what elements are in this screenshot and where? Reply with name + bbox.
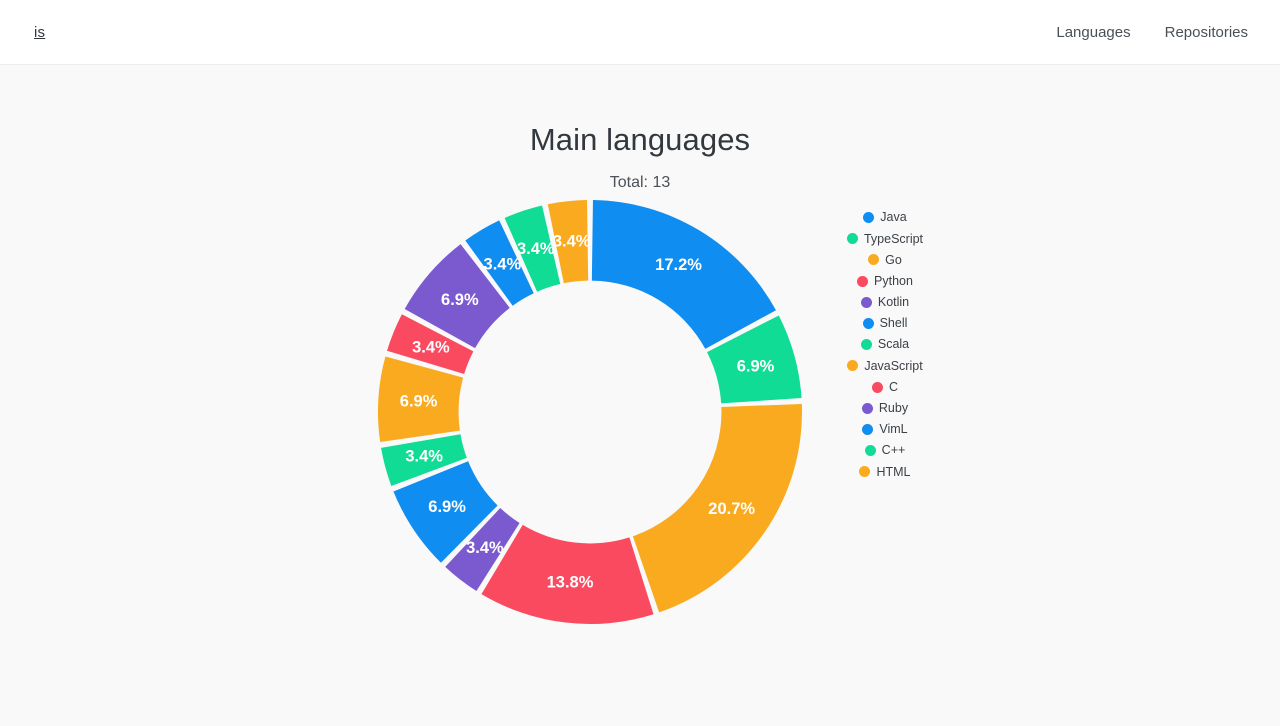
legend-item[interactable]: Shell — [863, 313, 908, 334]
nav-link-languages[interactable]: Languages — [1056, 24, 1130, 41]
brand-logo[interactable]: is — [34, 24, 45, 41]
legend-item[interactable]: C — [872, 377, 898, 398]
legend-item[interactable]: Java — [863, 207, 906, 228]
legend-item-label: C — [889, 381, 898, 394]
legend-color-dot-icon — [847, 233, 858, 244]
legend-item-label: JavaScript — [864, 360, 922, 373]
legend-item[interactable]: JavaScript — [847, 355, 922, 376]
legend-item-label: Python — [874, 275, 913, 288]
legend-color-dot-icon — [847, 360, 858, 371]
donut-slice-label: 6.9% — [737, 357, 775, 375]
donut-slice-label: 6.9% — [428, 498, 466, 516]
donut-slice-label: 3.4% — [405, 448, 443, 466]
legend-item[interactable]: Python — [857, 271, 913, 292]
donut-slice-label: 20.7% — [708, 500, 755, 518]
donut-slice-label: 3.4% — [484, 255, 522, 273]
legend-color-dot-icon — [862, 403, 873, 414]
legend-item-label: Scala — [878, 338, 909, 351]
legend-item[interactable]: Ruby — [862, 398, 908, 419]
donut-slice[interactable] — [592, 200, 776, 349]
chart-legend: JavaTypeScriptGoPythonKotlinShellScalaJa… — [806, 207, 964, 482]
legend-item[interactable]: VimL — [862, 419, 907, 440]
legend-color-dot-icon — [861, 339, 872, 350]
legend-item[interactable]: Scala — [861, 334, 909, 355]
legend-color-dot-icon — [863, 318, 874, 329]
donut-slice-label: 17.2% — [655, 256, 702, 274]
app-header: is LanguagesRepositories — [0, 0, 1280, 65]
legend-item[interactable]: TypeScript — [847, 228, 923, 249]
legend-color-dot-icon — [868, 254, 879, 265]
legend-item-label: Go — [885, 254, 902, 267]
donut-slice-label: 3.4% — [412, 338, 450, 356]
legend-item[interactable]: Kotlin — [861, 292, 909, 313]
donut-chart-svg: 17.2%6.9%20.7%13.8%3.4%6.9%3.4%6.9%3.4%6… — [375, 197, 805, 627]
page-body: Main languages Total: 13 17.2%6.9%20.7%1… — [0, 65, 1280, 726]
legend-item-label: C++ — [882, 444, 906, 457]
donut-slice-label: 3.4% — [553, 232, 591, 250]
legend-item-label: Shell — [880, 317, 908, 330]
legend-color-dot-icon — [859, 466, 870, 477]
legend-item[interactable]: HTML — [859, 461, 910, 482]
legend-color-dot-icon — [857, 276, 868, 287]
donut-slice-label: 13.8% — [547, 574, 594, 592]
donut-chart[interactable]: 17.2%6.9%20.7%13.8%3.4%6.9%3.4%6.9%3.4%6… — [375, 197, 805, 627]
legend-item-label: Java — [880, 211, 906, 224]
donut-slice-label: 3.4% — [466, 539, 504, 557]
nav-link-repositories[interactable]: Repositories — [1165, 24, 1248, 41]
donut-slices — [378, 200, 802, 624]
legend-item-label: Ruby — [879, 402, 908, 415]
legend-color-dot-icon — [872, 382, 883, 393]
chart-area: 17.2%6.9%20.7%13.8%3.4%6.9%3.4%6.9%3.4%6… — [0, 191, 1280, 661]
chart-total-label: Total: 13 — [0, 155, 1280, 191]
legend-item-label: Kotlin — [878, 296, 909, 309]
legend-item-label: VimL — [879, 423, 907, 436]
donut-slice-label: 3.4% — [517, 240, 555, 258]
page-title: Main languages — [0, 65, 1280, 155]
donut-slice-label: 6.9% — [441, 291, 479, 309]
legend-item-label: TypeScript — [864, 233, 923, 246]
legend-color-dot-icon — [863, 212, 874, 223]
legend-color-dot-icon — [861, 297, 872, 308]
legend-color-dot-icon — [862, 424, 873, 435]
legend-item-label: HTML — [876, 466, 910, 479]
donut-slice-label: 6.9% — [400, 392, 438, 410]
legend-item[interactable]: C++ — [865, 440, 906, 461]
legend-item[interactable]: Go — [868, 249, 902, 270]
main-nav: LanguagesRepositories — [1056, 24, 1248, 41]
legend-color-dot-icon — [865, 445, 876, 456]
